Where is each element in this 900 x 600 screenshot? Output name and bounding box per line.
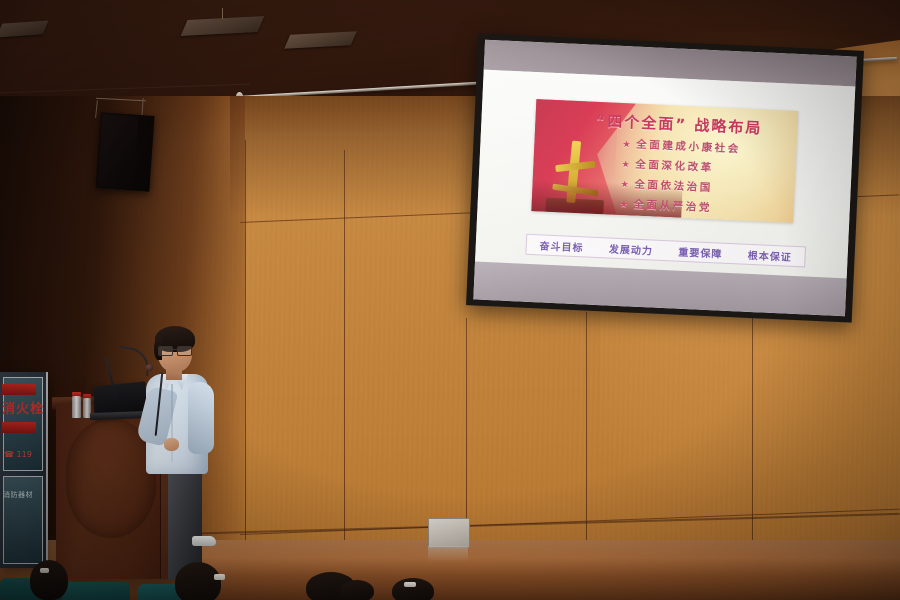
speaker-grille: [98, 114, 139, 188]
ceiling-seam: [0, 84, 250, 94]
audience-chair: [62, 582, 130, 600]
wall-seam-vertical: [752, 300, 753, 560]
lecture-hall-photo: “四个全面” 战略布局 ★全面建成小康社会 ★全面深化改革 ★全面依法治国 ★全…: [0, 0, 900, 600]
wall-seam-vertical: [344, 150, 345, 560]
audience-head: [340, 580, 374, 600]
slide-banner-image: “四个全面” 战略布局 ★全面建成小康社会 ★全面深化改革 ★全面依法治国 ★全…: [531, 99, 798, 223]
slide-bullet-text: 全面依法治国: [634, 179, 713, 195]
water-bottle: [72, 396, 81, 418]
caption-item: 发展动力: [609, 241, 654, 258]
caption-item: 奋斗目标: [539, 237, 584, 254]
presenter-arm: [188, 382, 214, 454]
ceiling-vent-icon: [284, 31, 357, 48]
wall-speaker-icon: [95, 112, 154, 192]
presenter: [140, 322, 230, 580]
presenter-shoe: [192, 536, 216, 546]
audience-head: [30, 560, 68, 600]
caption-item: 重要保障: [678, 244, 723, 261]
projection-screen[interactable]: “四个全面” 战略布局 ★全面建成小康社会 ★全面深化改革 ★全面依法治国 ★全…: [466, 33, 864, 322]
wall-seam-vertical: [245, 140, 246, 560]
emergency-phone-icon: ☎ 119: [4, 450, 32, 459]
slide-bullet-text: 全面建成小康社会: [636, 139, 741, 156]
ceiling-vent-icon: [0, 20, 49, 37]
slide-bullet-text: 全面从严治党: [633, 199, 712, 215]
slide-caption-row: 奋斗目标 发展动力 重要保障 根本保证: [525, 234, 806, 268]
slide-canvas: “四个全面” 战略布局 ★全面建成小康社会 ★全面深化改革 ★全面依法治国 ★全…: [475, 70, 855, 279]
caption-item: 根本保证: [748, 247, 793, 264]
cabinet-warning-label: [2, 422, 36, 433]
eyeglass-lens: [158, 346, 173, 356]
eyeglasses-icon: [158, 346, 191, 354]
star-icon: ★: [620, 180, 631, 190]
star-icon: ★: [620, 200, 631, 210]
star-icon: ★: [621, 160, 632, 170]
screen-surface: “四个全面” 战略布局 ★全面建成小康社会 ★全面深化改革 ★全面依法治国 ★全…: [473, 40, 856, 317]
wall-vent-plate: [428, 518, 470, 548]
slide-bullet-list: ★全面建成小康社会 ★全面深化改革 ★全面依法治国 ★全面从严治党: [619, 135, 790, 223]
vent-hanger: [222, 8, 223, 19]
audience-head: [175, 562, 221, 600]
slide-bullet-text: 全面深化改革: [635, 159, 714, 175]
presenter-hand: [164, 438, 179, 451]
ceiling-vent-icon: [181, 16, 265, 36]
eyeglass-lens: [177, 346, 192, 356]
cabinet-warning-label: [2, 384, 36, 395]
wall-seam-vertical: [586, 312, 587, 562]
fire-equipment-cabinet[interactable]: 消火栓 ☎ 119 消防器材: [0, 372, 48, 568]
star-icon: ★: [622, 140, 633, 150]
wall-plate-reflection: [428, 546, 468, 562]
hair-clip-icon: [404, 582, 416, 587]
hair-clip-icon: [214, 574, 225, 580]
cabinet-title-text: 消火栓: [2, 398, 44, 417]
cabinet-subtitle-text: 消防器材: [3, 490, 33, 500]
hair-clip-icon: [40, 568, 49, 573]
